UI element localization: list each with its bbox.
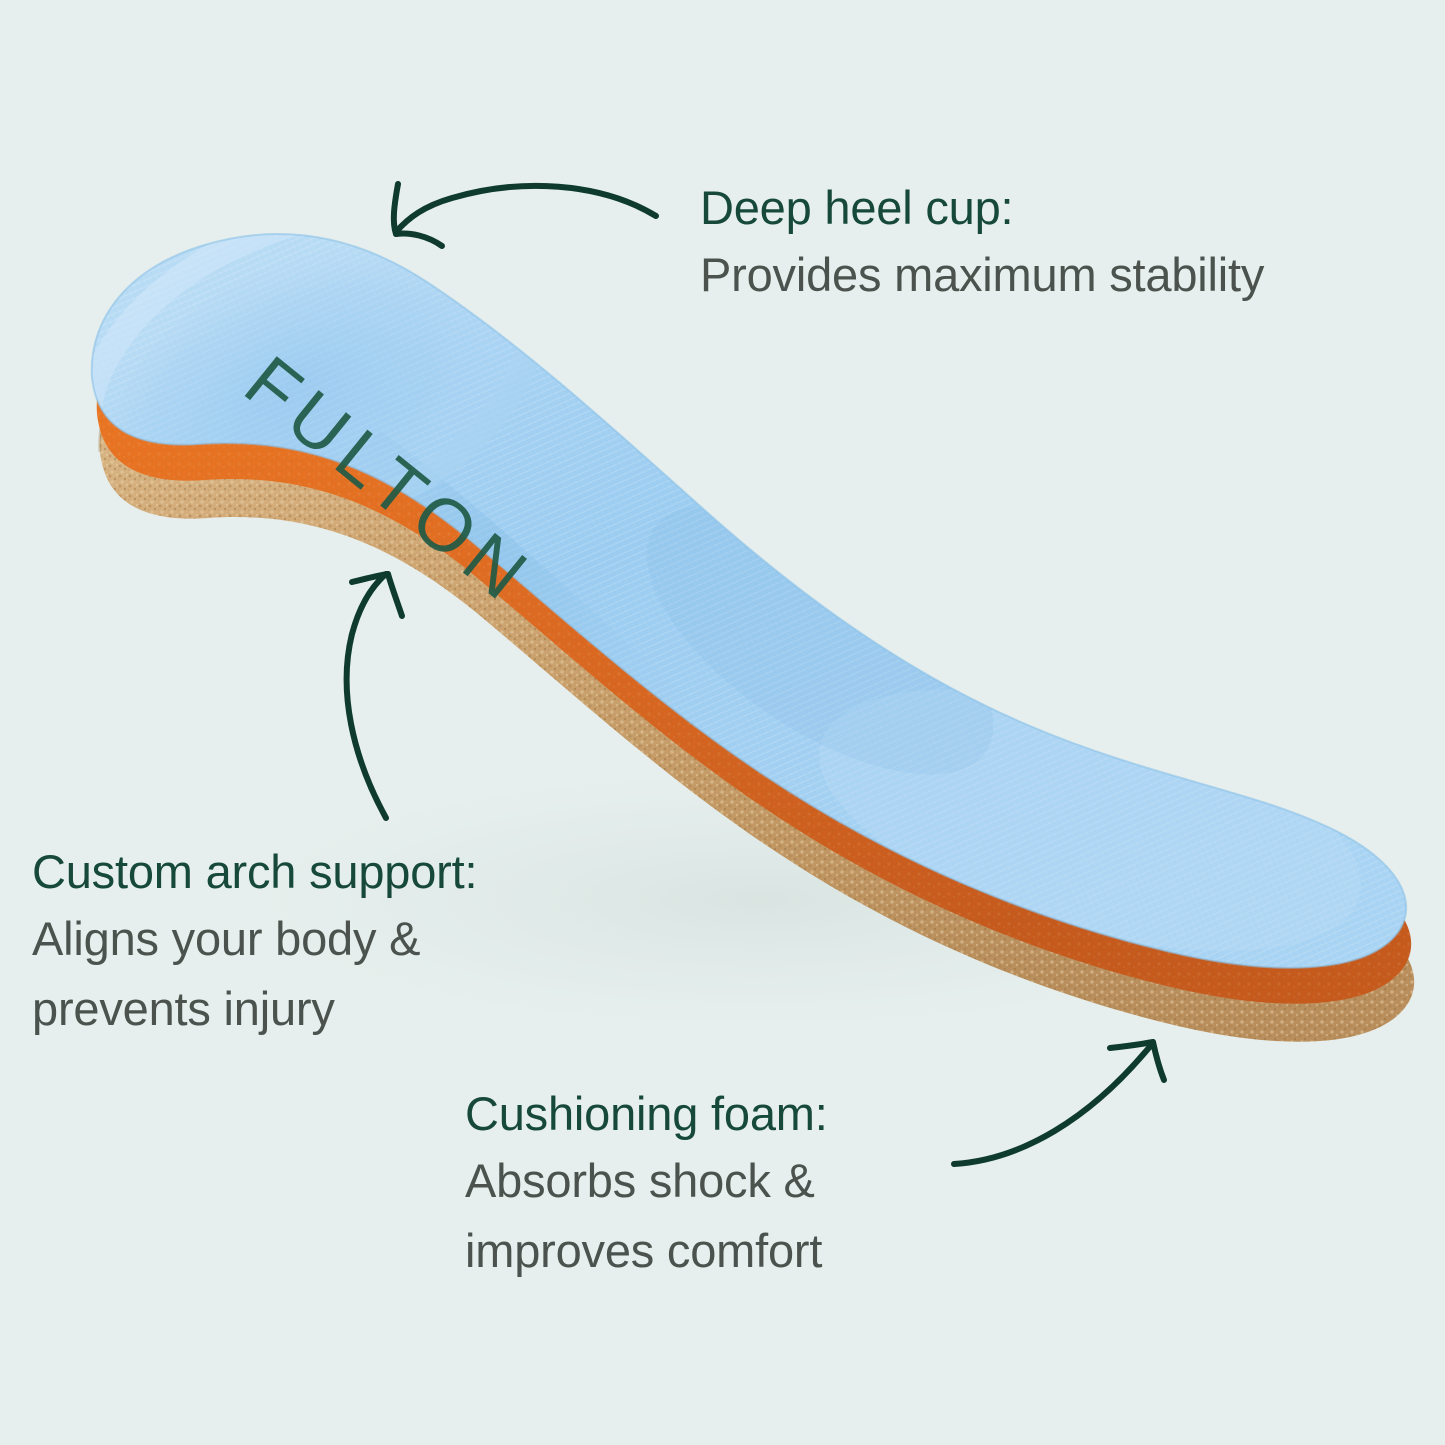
callout-description-line: Aligns your body & <box>32 904 477 974</box>
callout-description-line: improves comfort <box>465 1216 828 1286</box>
product-feature-diagram: FULTON Deep heel cup <box>0 0 1445 1445</box>
callout-description-line: Absorbs shock & <box>465 1146 828 1216</box>
callout-custom-arch-support: Custom arch support: Aligns your body & … <box>32 840 477 1044</box>
callout-title: Cushioning foam: <box>465 1082 828 1146</box>
callout-title: Deep heel cup: <box>700 176 1264 240</box>
callout-description-line: Provides maximum stability <box>700 240 1264 310</box>
callout-deep-heel-cup: Deep heel cup: Provides maximum stabilit… <box>700 176 1264 310</box>
callout-cushioning-foam: Cushioning foam: Absorbs shock & improve… <box>465 1082 828 1286</box>
callout-title: Custom arch support: <box>32 840 477 904</box>
callout-description-line: prevents injury <box>32 974 477 1044</box>
